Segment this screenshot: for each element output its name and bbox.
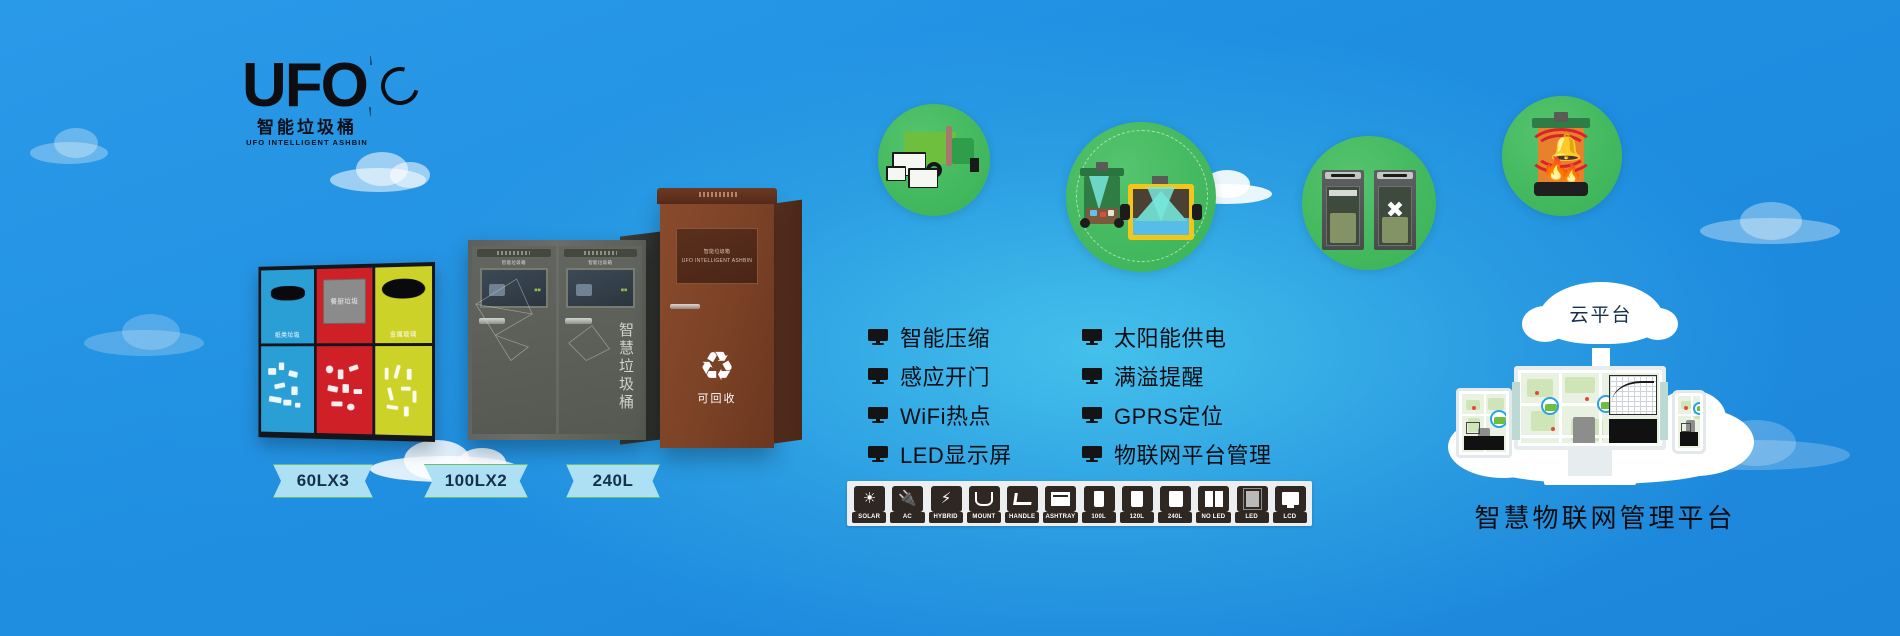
compartment-label: 金属玻璃 [375,328,432,338]
bin-compartment-metalglass: 金属玻璃 [375,266,432,436]
option-label: LCD [1273,512,1307,523]
feature-label: GPRS定位 [1114,399,1223,431]
cloud-platform-bubble: 云平台 [1538,282,1664,344]
polygon-graphic [472,246,555,363]
feature-label: 满溢提醒 [1114,360,1204,392]
option-label: NO LED [1196,512,1230,523]
ultrasonic-fill-sensor-icon [1066,122,1216,272]
analytics-panel [1609,375,1657,443]
phone-screen [1678,396,1700,448]
ufo-ring-icon [369,55,372,117]
bin-120l-icon [1122,486,1153,512]
option-icon-strip: ☀ SOLAR 🔌 AC ⚡ HYBRID MOUNT HANDLE ASHTR… [847,481,1312,526]
bin-100l-icon [1084,486,1115,512]
option-label: AC [890,512,924,523]
capacity-ribbon-100lx2: 100LX2 [424,464,528,498]
capacity-ribbon-60lx3: 60LX3 [273,464,373,498]
brand-logo: UFO 智能垃圾桶 UFO INTELLIGENT ASHBIN [242,55,372,147]
compartment-bottom-paper [261,346,314,433]
product-banner: UFO 智能垃圾桶 UFO INTELLIGENT ASHBIN 纸类垃圾 [0,0,1900,636]
feature-label: 智能压缩 [900,321,990,353]
panel-line-cn: 智能垃圾箱 [704,248,731,255]
option-label: LED [1235,512,1269,523]
option-solar: ☀ SOLAR [852,485,886,523]
compartment-screen: 餐厨垃圾 [324,278,366,323]
tablet-screen [1462,394,1506,452]
feature-item: 智能压缩 [868,320,1046,353]
cloud-slot-icon [382,279,425,300]
compartment-bottom-metalglass [375,346,432,436]
logo-english-name: UFO INTELLIGENT ASHBIN [242,138,372,147]
monitor-icon [1082,446,1102,462]
desktop-monitor [1514,366,1666,450]
product-bin-recycle: 智能垃圾箱 UFO INTELLIGENT ASHBIN ♻ 可回收 [660,196,774,448]
option-label: MOUNT [967,512,1001,523]
option-led: LED [1235,485,1269,523]
power-plug-icon: 🔌 [892,486,923,512]
monitor-icon [868,329,888,345]
handle-icon [1007,486,1038,512]
platform-title: 智慧物联网管理平台 [1440,498,1770,535]
bin-compartment-kitchen: 餐厨垃圾 [317,268,372,435]
panel-line-en: UFO INTELLIGENT ASHBIN [682,258,752,264]
bin-front-shell: 智能垃圾箱 ◼◼ 智能垃圾箱 ◼◼ [468,240,646,440]
bin-info-panel: 智能垃圾箱 UFO INTELLIGENT ASHBIN [676,228,758,284]
option-120l: 120L [1120,485,1154,523]
bin-triple-frame: 纸类垃圾 [258,262,435,442]
feature-list: 智能压缩 太阳能供电 感应开门 满溢提醒 WiFi热点 GPRS定位 LED显示… [868,320,1292,470]
feature-item: GPRS定位 [1082,398,1292,431]
product-bin-smart-double: 智能垃圾箱 ◼◼ 智能垃圾箱 ◼◼ [468,240,646,440]
polygon-graphic [559,246,642,363]
recycle-label: 可回收 [660,390,774,406]
feature-item: 满溢提醒 [1082,359,1292,392]
option-lcd: LCD [1273,485,1307,523]
feature-item: 太阳能供电 [1082,320,1292,353]
monitor-icon [1082,368,1102,384]
logo-chinese-name: 智能垃圾桶 [242,118,372,137]
monitor-icon [868,407,888,423]
capacity-label: 100LX2 [445,471,508,491]
smart-bin-right: 智能垃圾箱 ◼◼ 智慧垃圾桶 [559,246,643,434]
led-icon [1237,486,1268,512]
monitor-screen [1521,373,1659,443]
feature-label: 太阳能供电 [1114,321,1227,353]
option-100l: 100L [1082,485,1116,523]
option-label: 240L [1158,512,1192,523]
kitchen-waste-illustration [321,356,367,423]
option-hybrid: ⚡ HYBRID [929,485,963,523]
product-bin-triple: 纸类垃圾 [245,262,435,442]
garbage-truck-with-devices-icon [878,104,990,216]
option-240l: 240L [1158,485,1192,523]
monitor-stand [1568,450,1612,476]
feature-item: 物联网平台管理 [1082,437,1292,470]
trash-compaction-icon: ✖ [1302,136,1436,270]
option-no-led: NO LED [1196,485,1230,523]
feature-label: 感应开门 [900,360,990,392]
option-label: ASHTRAY [1043,512,1077,523]
capability-circle-compaction: ✖ [1302,136,1436,270]
metal-glass-waste-illustration [379,357,427,425]
option-label: HYBRID [929,512,963,523]
option-label: SOLAR [852,512,886,523]
compartment-top-paper: 纸类垃圾 [261,269,314,343]
feature-label: LED显示屏 [900,438,1012,470]
wall-mount-icon [969,486,1000,512]
ashtray-icon [1045,486,1076,512]
area-chart [1609,419,1657,443]
smart-bin-left: 智能垃圾箱 ◼◼ [472,246,556,434]
fire-alarm-icon: 🔔 🔥 🔥 [1502,96,1622,216]
recycle-icon: ♻ [660,347,774,387]
tablet-device [1456,388,1512,458]
monitor-icon [868,368,888,384]
compartment-top-metalglass: 金属玻璃 [375,266,432,343]
recycle-marking: ♻ 可回收 [660,347,774,406]
paper-waste-illustration [265,356,310,422]
bin-240l-icon [1160,486,1191,512]
option-mount: MOUNT [967,485,1001,523]
option-ac: 🔌 AC [890,485,924,523]
feature-item: LED显示屏 [868,437,1046,470]
hybrid-power-icon: ⚡ [931,486,962,512]
monitor-icon [868,446,888,462]
capacity-label: 240L [593,471,634,491]
map-marker-icon [1541,397,1559,415]
bin-vent-icon [699,192,738,197]
logo-wordmark-row: UFO [242,55,372,117]
feature-label: WiFi热点 [900,399,991,431]
capability-circle-collection-truck [878,104,990,216]
monitor-icon [1082,329,1102,345]
feature-item: WiFi热点 [868,398,1046,431]
option-label: HANDLE [1005,512,1039,523]
feature-label: 物联网平台管理 [1114,438,1272,470]
feature-item: 感应开门 [868,359,1046,392]
option-handle: HANDLE [1005,485,1039,523]
line-chart [1609,375,1657,415]
capability-circle-fill-level [1066,122,1216,272]
capability-circle-fire-alarm: 🔔 🔥 🔥 [1502,96,1622,216]
lcd-icon [1275,486,1306,512]
capacity-label: 60LX3 [297,471,350,491]
logo-wordmark: UFO [242,57,367,115]
monitor-icon [1082,407,1102,423]
no-led-icon [1198,486,1229,512]
bin-front-body: 智能垃圾箱 UFO INTELLIGENT ASHBIN ♻ 可回收 [660,196,774,448]
bin-compartment-paper: 纸类垃圾 [261,269,314,433]
compartment-top-kitchen: 餐厨垃圾 [317,268,372,343]
capacity-ribbon-240l: 240L [566,464,660,498]
option-ashtray: ASHTRAY [1043,485,1077,523]
monitor-base [1544,476,1636,485]
option-label: 120L [1120,512,1154,523]
compartment-bottom-kitchen [317,346,372,434]
bin-handle [670,304,700,309]
sun-icon: ☀ [854,486,885,512]
iot-platform-illustration: 云平台 [1440,292,1770,542]
phone-device [1672,390,1706,454]
option-label: 100L [1082,512,1116,523]
cloud-platform-label: 云平台 [1569,300,1632,327]
compartment-label: 纸类垃圾 [261,329,314,339]
compartment-label: 餐厨垃圾 [330,296,358,306]
oval-slot-icon [271,286,305,301]
